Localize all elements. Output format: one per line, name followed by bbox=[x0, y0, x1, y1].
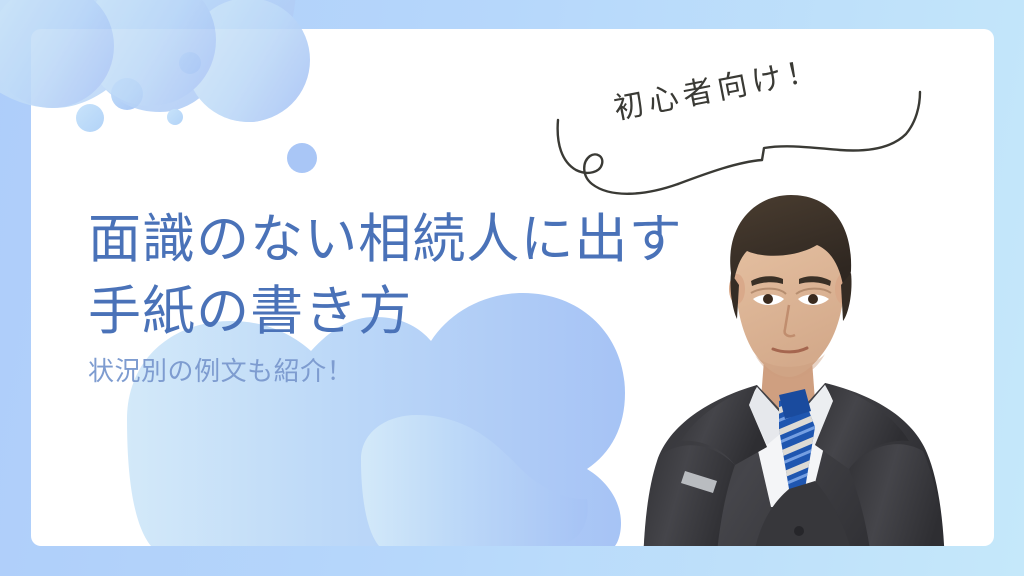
decor-circle-right bbox=[287, 143, 317, 173]
presenter-portrait bbox=[639, 189, 994, 546]
headline-block: 面識のない相続人に出す 手紙の書き方 状況別の例文も紹介！ bbox=[88, 204, 683, 389]
pupil-left bbox=[763, 294, 773, 304]
decor-circle-mid bbox=[111, 78, 143, 110]
page-title: 面識のない相続人に出す 手紙の書き方 bbox=[88, 204, 683, 347]
promo-banner: 面識のない相続人に出す 手紙の書き方 状況別の例文も紹介！ bbox=[0, 0, 1024, 576]
title-line-2: 手紙の書き方 bbox=[88, 276, 683, 348]
jacket-button bbox=[794, 526, 804, 536]
handwritten-badge: 初心者向け！ bbox=[548, 78, 948, 203]
page-subtitle: 状況別の例文も紹介！ bbox=[88, 355, 683, 389]
decor-circle-upper bbox=[179, 52, 201, 74]
pupil-right bbox=[808, 294, 818, 304]
title-line-1: 面識のない相続人に出す bbox=[88, 204, 683, 276]
